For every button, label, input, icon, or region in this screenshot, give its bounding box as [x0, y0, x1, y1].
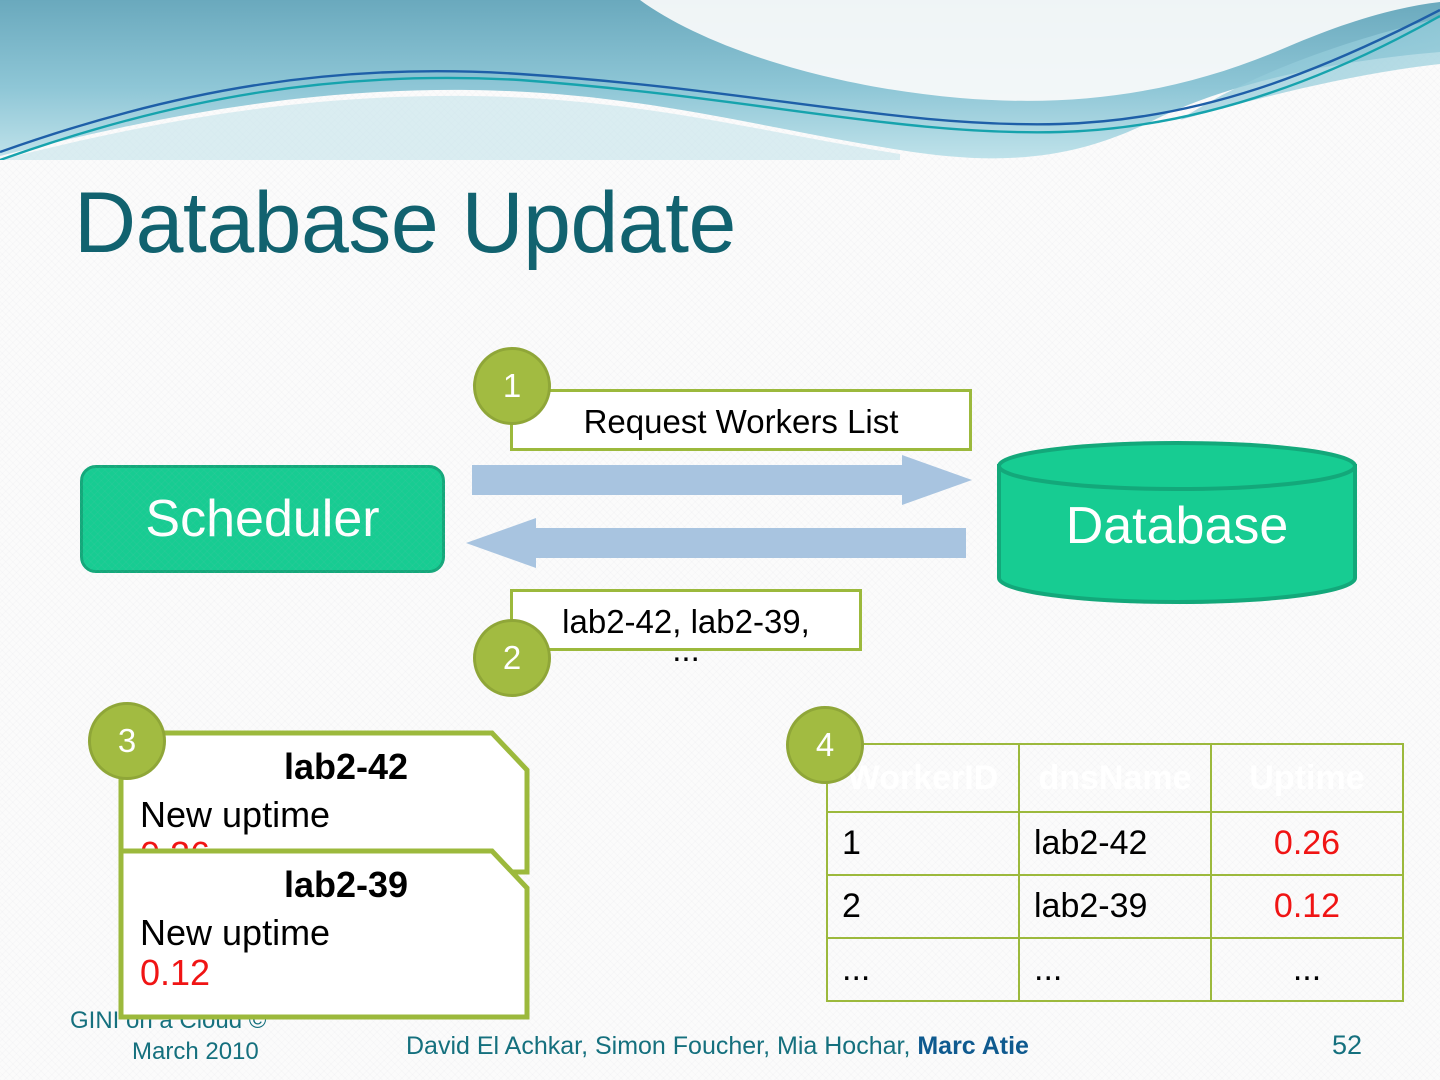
step-badge-3-label: 3 [118, 722, 136, 760]
note-card-1-line: New uptime [140, 795, 508, 835]
response-arrow-left-icon [466, 518, 966, 568]
step-badge-1: 1 [473, 347, 551, 425]
cell-workerid: 1 [827, 812, 1019, 875]
footer-authors-bold: Marc Atie [917, 1032, 1029, 1060]
cell-dnsname: lab2-39 [1019, 875, 1211, 938]
table-row: 1 lab2-42 0.26 [827, 812, 1403, 875]
callout-request-workers-list: Request Workers List [510, 389, 972, 451]
cell-dnsname: ... [1019, 938, 1211, 1001]
note-card-2-body: lab2-39 New uptime 0.12 [118, 848, 530, 1020]
cell-uptime: 0.12 [1211, 875, 1403, 938]
request-arrow-right-icon [472, 455, 972, 505]
database-node: Database [996, 440, 1358, 604]
cell-workerid: 2 [827, 875, 1019, 938]
footer-project-line2: March 2010 [70, 1036, 266, 1067]
footer-page-number: 52 [1332, 1030, 1362, 1061]
step-badge-3: 3 [88, 702, 166, 780]
step-badge-4-label: 4 [816, 726, 834, 764]
cell-workerid: ... [827, 938, 1019, 1001]
table-row: 2 lab2-39 0.12 [827, 875, 1403, 938]
banner-waves-icon [0, 0, 1440, 160]
step-badge-1-label: 1 [503, 367, 521, 405]
step-badge-2: 2 [473, 619, 551, 697]
step-badge-4: 4 [786, 706, 864, 784]
table-header-row: WorkerID dnsName Uptime [827, 744, 1403, 812]
callout-response-ellipsis: ... [513, 631, 859, 669]
cell-uptime: 0.26 [1211, 812, 1403, 875]
footer-authors: David El Achkar, Simon Foucher, Mia Hoch… [406, 1032, 1029, 1061]
note-card-2-line: New uptime [140, 913, 508, 953]
note-card-2-title: lab2-39 [140, 864, 508, 905]
worker-table-body: 1 lab2-42 0.26 2 lab2-39 0.12 ... ... ..… [827, 812, 1403, 1001]
footer-authors-plain: David El Achkar, Simon Foucher, Mia Hoch… [406, 1032, 917, 1060]
database-label: Database [996, 500, 1358, 552]
cell-dnsname: lab2-42 [1019, 812, 1211, 875]
step-badge-2-label: 2 [503, 639, 521, 677]
scheduler-node: Scheduler [80, 465, 445, 573]
note-card-1-title: lab2-42 [140, 746, 508, 787]
table-header-uptime: Uptime [1211, 744, 1403, 812]
callout-request-text: Request Workers List [513, 401, 969, 442]
callout-workers-response: lab2-42, lab2-39, ... [510, 589, 862, 651]
page-title: Database Update [74, 178, 736, 268]
note-card-lab2-39: lab2-39 New uptime 0.12 [118, 848, 530, 1020]
worker-table: WorkerID dnsName Uptime 1 lab2-42 0.26 2… [826, 743, 1404, 1002]
worker-table-head: WorkerID dnsName Uptime [827, 744, 1403, 812]
decorative-banner [0, 0, 1440, 160]
table-header-dnsname: dnsName [1019, 744, 1211, 812]
cell-uptime: ... [1211, 938, 1403, 1001]
note-card-2-value: 0.12 [140, 953, 508, 993]
scheduler-label: Scheduler [145, 489, 379, 549]
slide-canvas: Database Update Scheduler Database Reque… [0, 0, 1440, 1080]
table-row: ... ... ... [827, 938, 1403, 1001]
